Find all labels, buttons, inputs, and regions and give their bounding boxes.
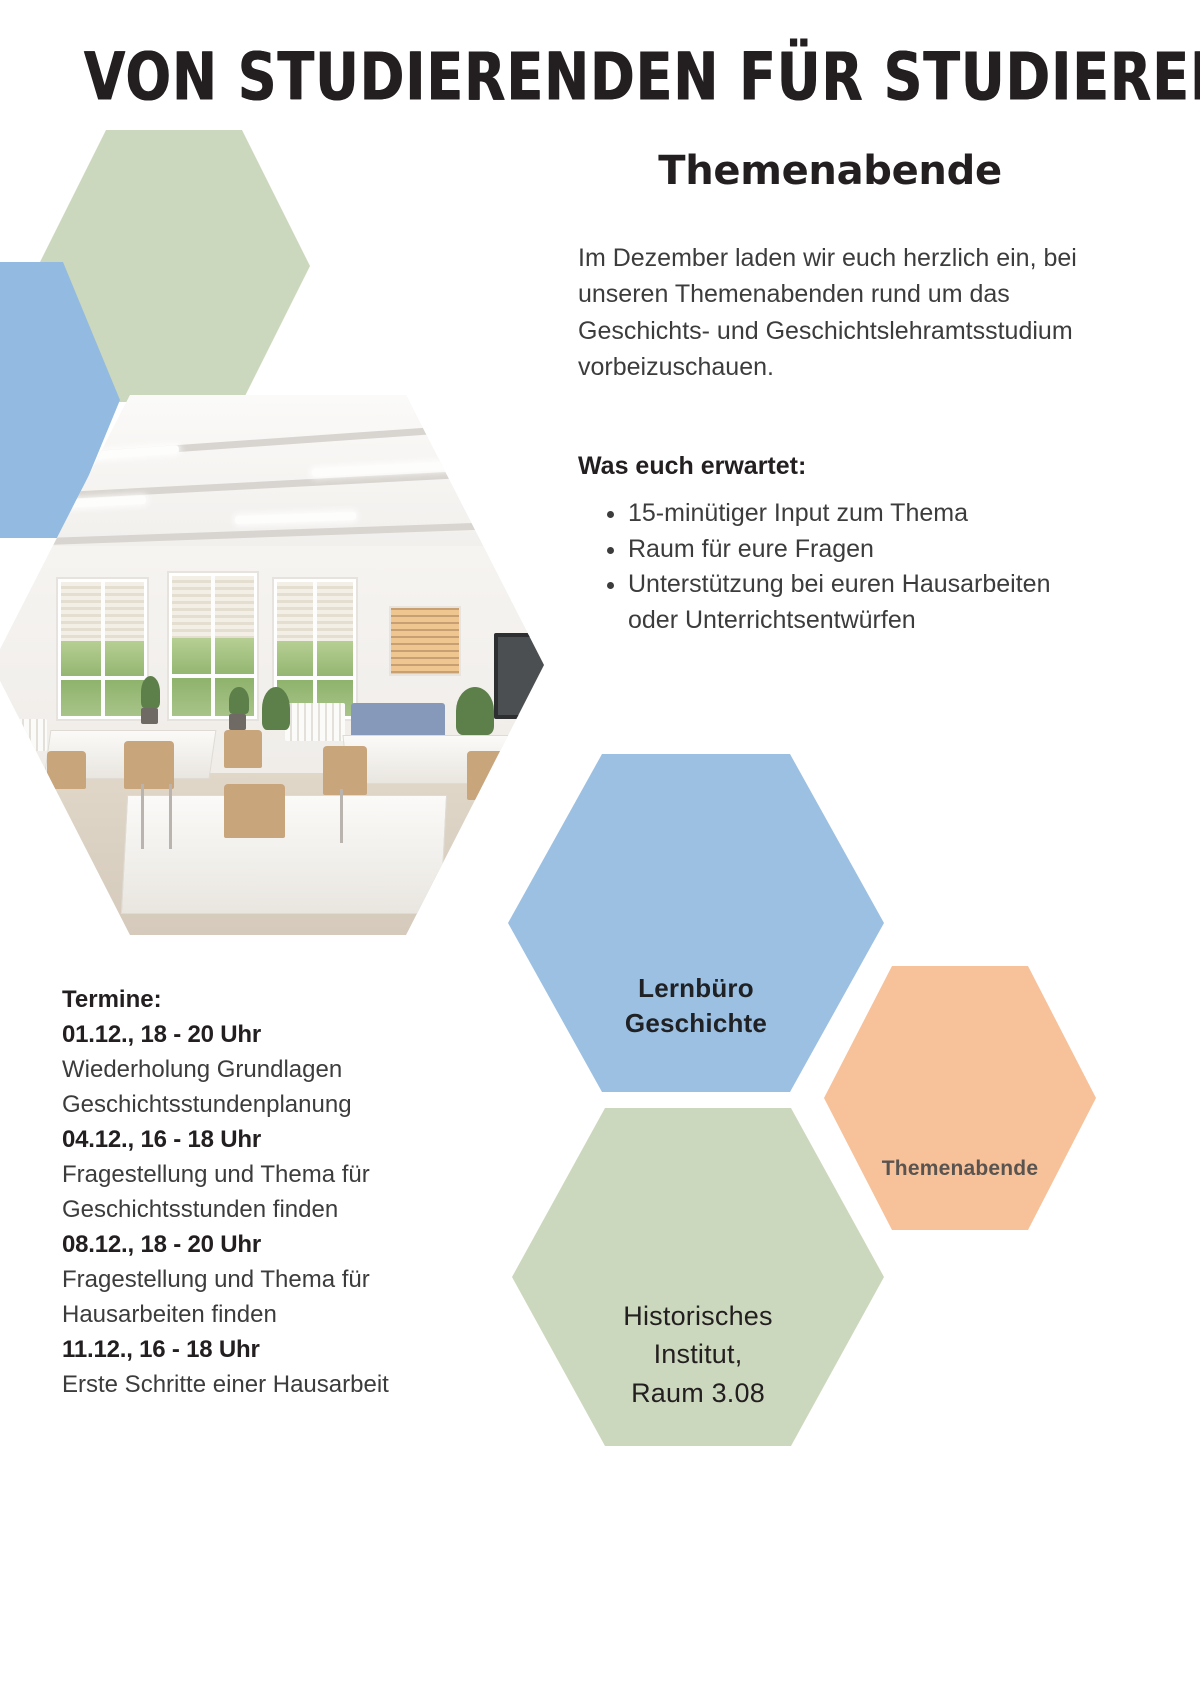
wall-monitor: [494, 633, 544, 719]
termine-date: 04.12., 16 - 18 Uhr: [62, 1122, 492, 1157]
chair: [47, 751, 86, 789]
chair: [323, 746, 367, 795]
chair: [467, 751, 511, 800]
chair-leg: [340, 789, 343, 843]
hexagon-location-label: Historisches Institut, Raum 3.08: [623, 1297, 772, 1446]
plant-pot: [141, 708, 158, 724]
chair: [124, 741, 174, 790]
termine-date: 08.12., 18 - 20 Uhr: [62, 1227, 492, 1262]
termine-description: Wiederholung Grundlagen Geschichtsstunde…: [62, 1052, 492, 1122]
chair-leg: [169, 784, 172, 849]
plant: [229, 687, 248, 714]
chair: [224, 730, 263, 768]
hexagon-lernbuero: Lernbüro Geschichte: [508, 754, 884, 1092]
termine-block: Termine: 01.12., 18 - 20 Uhr Wiederholun…: [62, 982, 492, 1402]
plant: [262, 687, 290, 730]
table: [343, 735, 525, 784]
page-headline: VON STUDIERENDEN FÜR STUDIERENDE: [84, 38, 1116, 115]
termine-description: Fragestellung und Thema für Geschichtsst…: [62, 1157, 492, 1227]
expect-heading: Was euch erwartet:: [578, 452, 806, 481]
chair: [224, 784, 285, 838]
section-title: Themenabende: [580, 148, 1080, 194]
list-item: Unterstützung bei euren Hausarbeiten ode…: [628, 567, 1084, 638]
window: [58, 579, 146, 719]
radiator: [285, 703, 346, 741]
termine-entry: 01.12., 18 - 20 Uhr Wiederholung Grundla…: [62, 1017, 492, 1122]
hexagon-location: Historisches Institut, Raum 3.08: [512, 1108, 884, 1446]
intro-paragraph: Im Dezember laden wir euch herzlich ein,…: [578, 240, 1083, 385]
list-item: Raum für eure Fragen: [628, 532, 1084, 568]
termine-entry: 08.12., 18 - 20 Uhr Fragestellung und Th…: [62, 1227, 492, 1332]
termine-entry: 04.12., 16 - 18 Uhr Fragestellung und Th…: [62, 1122, 492, 1227]
chair-leg: [141, 784, 144, 849]
radiator: [3, 719, 47, 751]
plant-pot: [229, 714, 246, 730]
termine-date: 01.12., 18 - 20 Uhr: [62, 1017, 492, 1052]
termine-date: 11.12., 16 - 18 Uhr: [62, 1332, 492, 1367]
hexagon-themenabende: Themenabende: [824, 966, 1096, 1230]
plant: [141, 676, 160, 708]
wall-poster: [389, 606, 461, 676]
chair-leg: [483, 795, 486, 849]
hexagon-lernbuero-label: Lernbüro Geschichte: [625, 971, 767, 1092]
hexagon-themenabende-label: Themenabende: [882, 1155, 1038, 1230]
termine-description: Erste Schritte einer Hausarbeit: [62, 1367, 492, 1402]
expect-list: 15-minütiger Input zum Thema Raum für eu…: [598, 496, 1084, 638]
termine-heading: Termine:: [62, 982, 492, 1017]
plant: [456, 687, 495, 736]
list-item: 15-minütiger Input zum Thema: [628, 496, 1084, 532]
termine-description: Fragestellung und Thema für Hausarbeiten…: [62, 1262, 492, 1332]
termine-entry: 11.12., 16 - 18 Uhr Erste Schritte einer…: [62, 1332, 492, 1402]
